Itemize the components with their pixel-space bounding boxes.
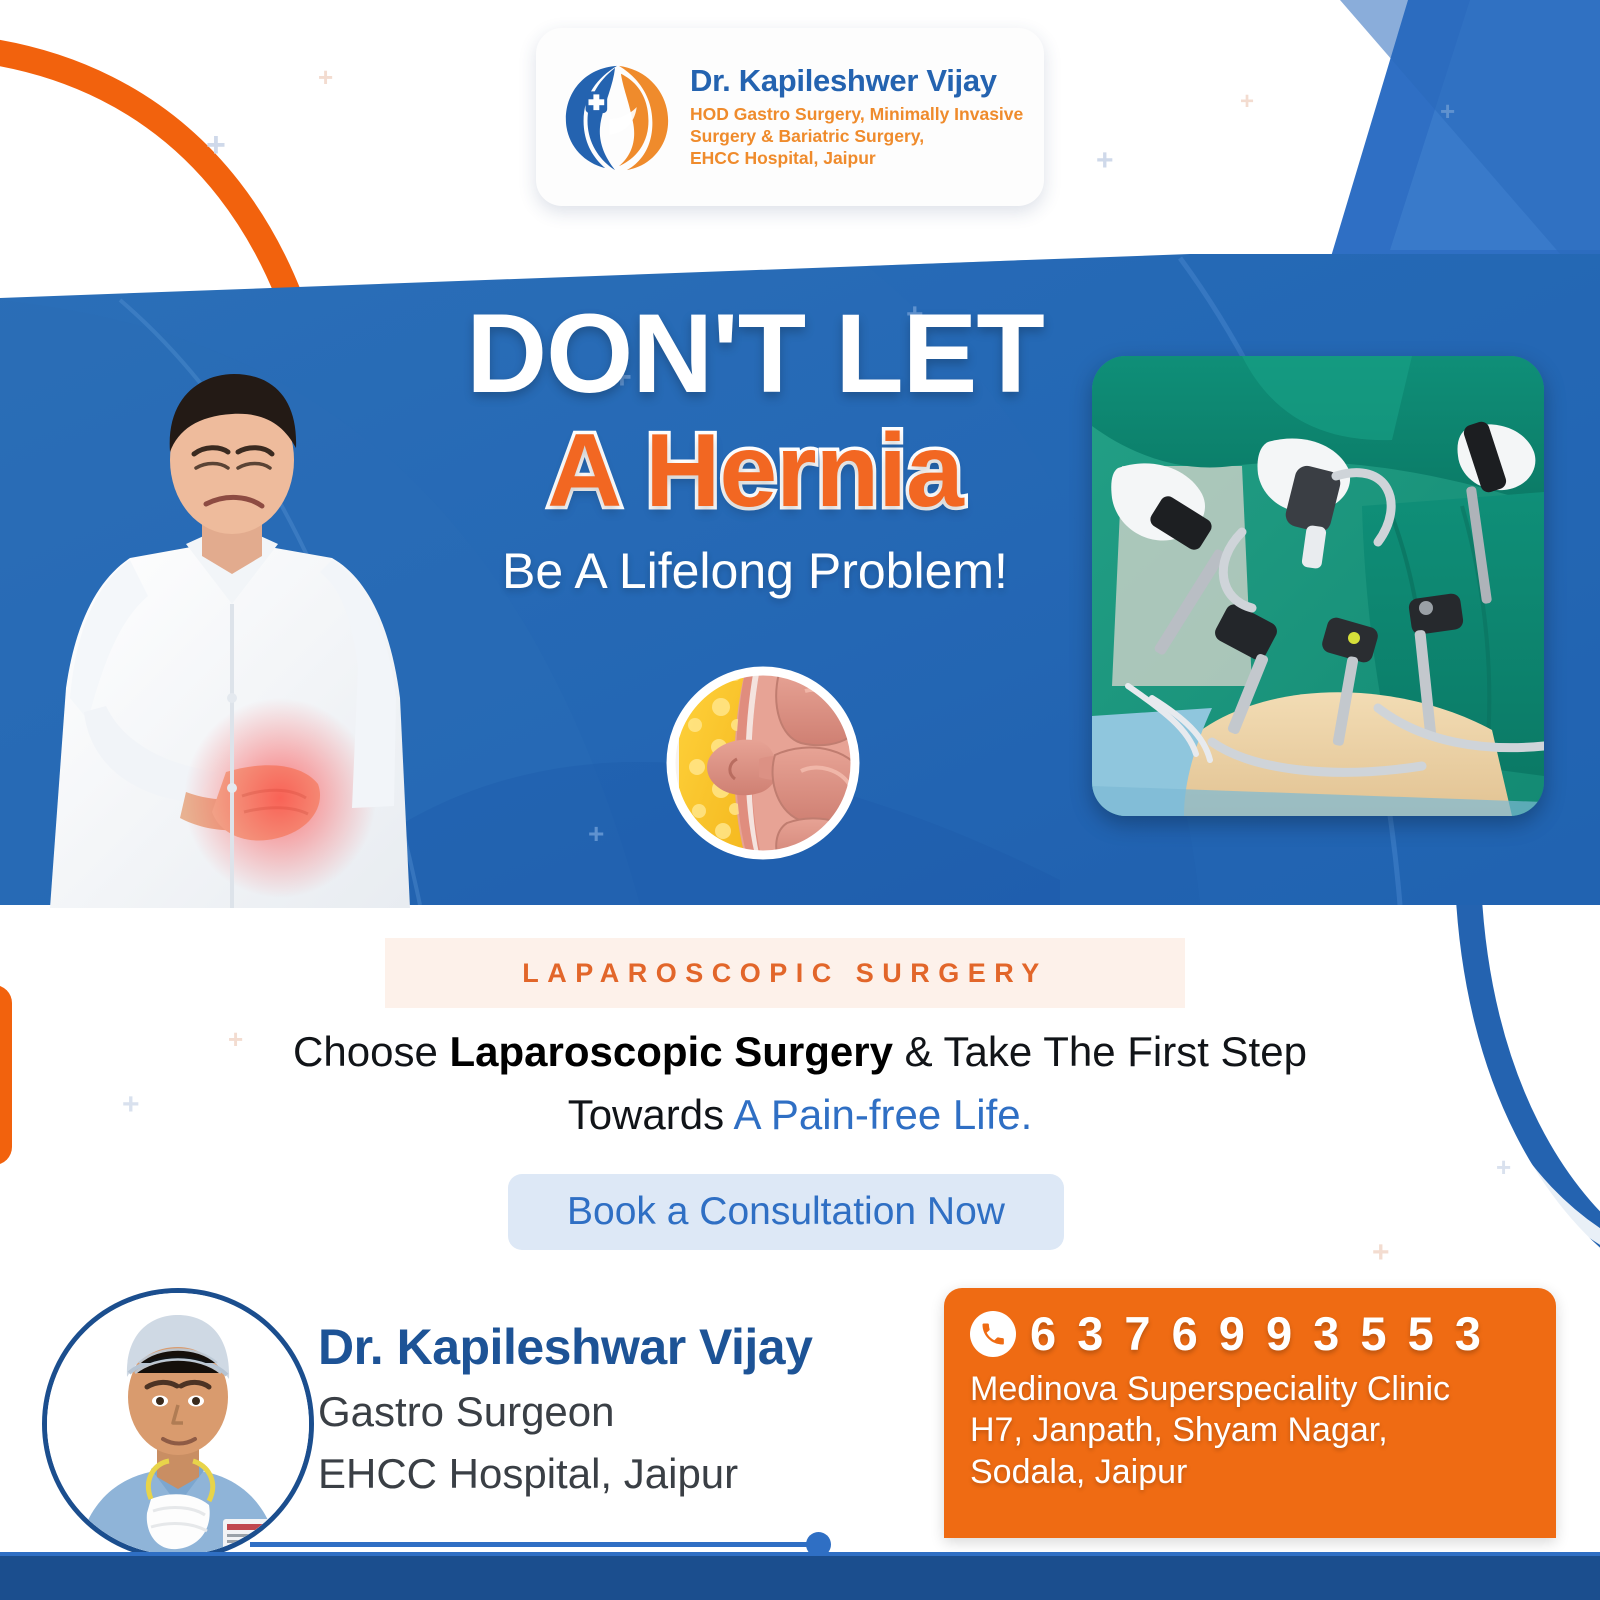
tagline-line-2: Towards A Pain-free Life.: [200, 1083, 1400, 1146]
orange-edge-tab: [0, 985, 12, 1165]
clinic-name: Medinova Superspeciality Clinic: [970, 1369, 1530, 1410]
plus-decoration-icon: +: [122, 1090, 140, 1120]
phone-number: 6 3 7 6 9 9 3 5 5 3: [1030, 1310, 1485, 1357]
plus-decoration-icon: +: [206, 128, 226, 162]
headline-line-1: DON'T LET: [410, 298, 1100, 410]
hernia-illustration: [663, 663, 863, 863]
surgery-photo: [1092, 356, 1544, 816]
phone-icon: [970, 1311, 1016, 1357]
tagline-part-2: & Take The First Step: [893, 1028, 1307, 1075]
blue-arc-decoration: [1432, 880, 1600, 1262]
footer-doctor-name: Dr. Kapileshwar Vijay: [318, 1318, 812, 1376]
plus-decoration-icon: +: [1372, 1238, 1390, 1268]
plus-decoration-icon: +: [1096, 146, 1114, 176]
blue-wedge-decorations: [1188, 0, 1600, 300]
plus-decoration-icon: +: [1240, 90, 1254, 114]
poster-canvas: + + + + + + + + + + + + Dr. Kapileshwer: [0, 0, 1600, 1600]
tagline: Choose Laparoscopic Surgery & Take The F…: [200, 1020, 1400, 1146]
logo-text-block: Dr. Kapileshwer Vijay HOD Gastro Surgery…: [690, 65, 1023, 169]
tagline-emphasis: Laparoscopic Surgery: [449, 1028, 892, 1075]
plus-decoration-icon: +: [318, 64, 333, 90]
logo-doctor-name: Dr. Kapileshwer Vijay: [690, 65, 1023, 98]
clinic-address-line-2: Sodala, Jaipur: [970, 1452, 1530, 1493]
hero-headline: DON'T LET A Hernia Be A Lifelong Problem…: [410, 298, 1100, 599]
tagline-line2-accent: A Pain-free Life.: [733, 1091, 1032, 1138]
clinic-address-line-1: H7, Janpath, Shyam Nagar,: [970, 1410, 1530, 1451]
logo-subtitle: HOD Gastro Surgery, Minimally Invasive S…: [690, 103, 1023, 169]
footer-divider-line: [250, 1542, 820, 1547]
doctor-avatar: [42, 1288, 314, 1560]
tagline-part-1: Choose: [293, 1028, 449, 1075]
plus-decoration-icon: +: [1496, 1154, 1511, 1180]
footer-doctor-hospital: EHCC Hospital, Jaipur: [318, 1450, 738, 1498]
logo-card[interactable]: Dr. Kapileshwer Vijay HOD Gastro Surgery…: [536, 28, 1044, 206]
footer-doctor-role: Gastro Surgeon: [318, 1388, 615, 1436]
logo-subtitle-line-3: EHCC Hospital, Jaipur: [690, 147, 1023, 169]
headline-line-2: A Hernia: [410, 416, 1100, 526]
tagline-line2-part-1: Towards: [568, 1091, 734, 1138]
book-consultation-button[interactable]: Book a Consultation Now: [508, 1174, 1064, 1250]
headline-line-3: Be A Lifelong Problem!: [410, 544, 1100, 599]
hero-banner: DON'T LET A Hernia Be A Lifelong Problem…: [0, 258, 1600, 908]
service-badge: LAPAROSCOPIC SURGERY: [385, 938, 1185, 1008]
plus-decoration-icon: +: [1440, 98, 1455, 124]
logo-subtitle-line-1: HOD Gastro Surgery, Minimally Invasive: [690, 103, 1023, 125]
logo-subtitle-line-2: Surgery & Bariatric Surgery,: [690, 125, 1023, 147]
tagline-line-1: Choose Laparoscopic Surgery & Take The F…: [200, 1020, 1400, 1083]
bottom-bar: [0, 1556, 1600, 1600]
phone-row[interactable]: 6 3 7 6 9 9 3 5 5 3: [970, 1310, 1530, 1357]
service-badge-label: LAPAROSCOPIC SURGERY: [522, 958, 1048, 989]
medical-cross-swoosh-logo-icon: [558, 58, 676, 176]
contact-card[interactable]: 6 3 7 6 9 9 3 5 5 3 Medinova Superspecia…: [944, 1288, 1556, 1538]
book-consultation-label: Book a Consultation Now: [567, 1190, 1005, 1234]
